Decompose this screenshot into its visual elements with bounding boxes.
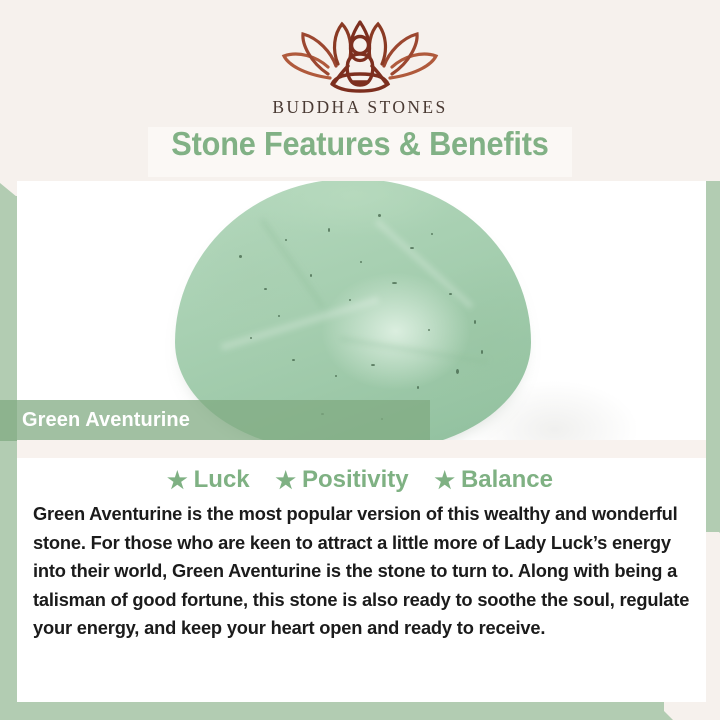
stone-speck (410, 247, 414, 249)
stone-speck (278, 315, 280, 317)
page-title: Stone Features & Benefits (25, 125, 695, 163)
star-icon: ★ (275, 467, 296, 494)
frame-bottom-border (0, 702, 664, 720)
star-icon: ★ (434, 467, 455, 494)
brand-logo: BUDDHA STONES (0, 18, 720, 118)
section-divider (17, 440, 706, 458)
stone-speck (285, 239, 287, 241)
stone-speck (417, 386, 419, 389)
frame-left-border (0, 196, 17, 703)
stone-speck (392, 282, 397, 284)
benefit-label: Luck (194, 466, 250, 493)
stone-speck (481, 350, 483, 354)
description-text: Green Aventurine is the most popular ver… (33, 500, 693, 643)
stone-facet (339, 336, 487, 364)
stone-speck (335, 375, 337, 377)
stone-facet (260, 218, 325, 308)
stone-speck (292, 359, 295, 361)
benefit-label: Positivity (302, 466, 409, 493)
frame-left-bevel (0, 183, 17, 197)
stone-speck (378, 214, 381, 217)
stone-speck (456, 369, 459, 374)
stone-speck (360, 261, 362, 263)
stone-speck (474, 320, 476, 324)
stone-speck (264, 288, 267, 290)
benefit-item-luck: ★Luck (167, 466, 250, 494)
stone-speck (371, 364, 375, 366)
star-icon: ★ (167, 467, 188, 494)
stone-speck (328, 228, 330, 232)
frame-bottom-bevel (655, 702, 673, 720)
stone-speck (449, 293, 452, 295)
brand-name: BUDDHA STONES (0, 97, 720, 118)
frame-right-bevel (706, 520, 720, 533)
stone-speck (349, 299, 351, 301)
stone-speck (250, 337, 252, 339)
stone-speck (239, 255, 242, 258)
infographic-canvas: BUDDHA STONES Stone Features & Benefits (0, 0, 720, 720)
header: BUDDHA STONES Stone Features & Benefits (0, 0, 720, 181)
benefit-item-balance: ★Balance (434, 466, 553, 494)
lotus-meditation-icon (272, 18, 448, 94)
stone-speck (428, 329, 430, 331)
benefit-label: Balance (461, 466, 553, 493)
benefits-row: ★Luck ★Positivity ★Balance (0, 466, 720, 494)
stone-speck (310, 274, 312, 277)
benefit-item-positivity: ★Positivity (275, 466, 408, 494)
stone-speck (431, 233, 433, 235)
stone-name-label: Green Aventurine (22, 409, 190, 432)
stone-facet (375, 218, 474, 308)
